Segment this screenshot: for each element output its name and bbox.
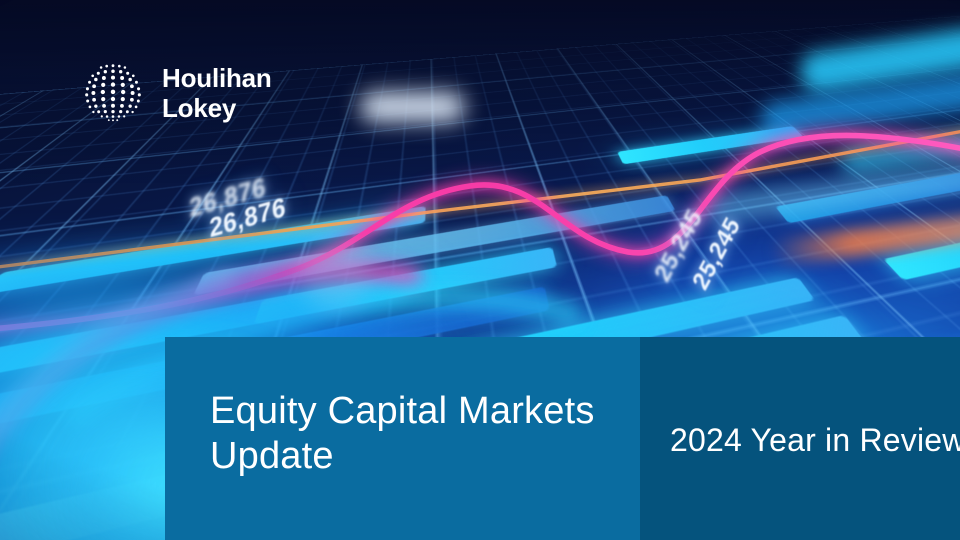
dotted-sphere-logo-icon [78, 58, 148, 128]
brand-logo: Houlihan Lokey [78, 58, 272, 128]
page-subtitle: 2024 Year in Review [670, 422, 960, 459]
page-title: Equity Capital Markets Update [210, 389, 610, 479]
brand-wordmark: Houlihan Lokey [162, 63, 272, 124]
title-panel: Equity Capital Markets Update [165, 337, 640, 540]
title-slide: 26,876 26,876 25,245 25,245 [0, 0, 960, 540]
subtitle-panel: 2024 Year in Review [640, 337, 960, 540]
